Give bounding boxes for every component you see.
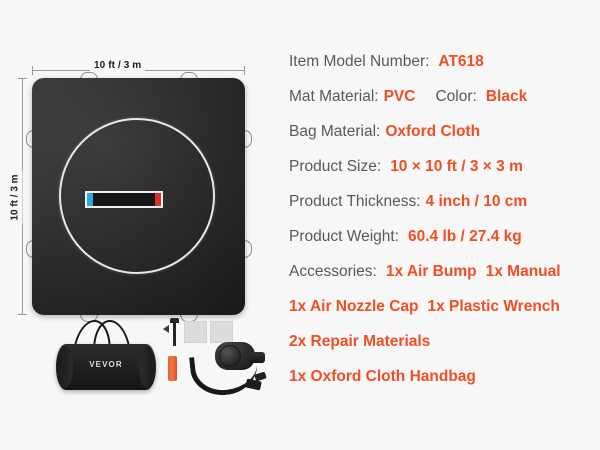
spec-label-mat-material: Mat Material: [289,88,379,106]
spec-row-accessories-cont-1: 1x Air Nozzle Cap 1x Plastic Wrench [289,289,594,324]
spec-label-product-weight: Product Weight: [289,228,399,246]
brand-chip-blue [87,193,93,206]
spec-value-mat-material: PVC [384,88,416,106]
spec-row-product-size: Product Size: 10 × 10 ft / 3 × 3 m [289,149,594,184]
spec-row-model-number: Item Model Number: AT618 [289,44,594,79]
pump-spout [249,352,265,363]
spec-row-product-weight: Product Weight: 60.4 lb / 27.4 kg [289,219,594,254]
pointer-arrow-icon [163,325,169,333]
mat-tab-right-lower [244,240,252,258]
electric-air-pump [189,340,271,400]
brand-chip-red [155,193,161,206]
pump-nozzle-attachment-b [254,371,267,381]
spec-label-model-number: Item Model Number: [289,53,429,71]
product-illustration: 10 ft / 3 m 10 ft / 3 m [0,0,280,450]
spec-row-accessories-cont-3: 1x Oxford Cloth Handbag [289,359,594,394]
dimension-cap-left-top [18,78,27,79]
spec-row-mat-material: Mat Material: PVC Color: Black [289,79,594,114]
air-nozzle-cap-icon [168,356,177,381]
spec-row-product-thickness: Product Thickness: 4 inch / 10 cm [289,184,594,219]
spec-row-accessories-cont-2: 2x Repair Materials [289,324,594,359]
spec-value-bag-material: Oxford Cloth [385,123,480,141]
dimension-label-left: 10 ft / 3 m [8,170,23,224]
dimension-cap-top-left [32,66,33,75]
spec-value-accessory-repair-materials: 2x Repair Materials [289,333,430,351]
oxford-cloth-handbag: VEVOR [52,318,160,396]
bag-body: VEVOR [56,344,156,390]
dimension-label-top: 10 ft / 3 m [90,60,145,71]
mat-tab-right-upper [244,130,252,148]
dimension-cap-left-bottom [18,314,27,315]
spec-label-color: Color: [435,88,476,106]
spec-value-model-number: AT618 [438,53,483,71]
spec-label-product-size: Product Size: [289,158,381,176]
spec-label-bag-material: Bag Material: [289,123,380,141]
bag-brand-label: VEVOR [56,360,156,369]
spec-label-product-thickness: Product Thickness: [289,193,421,211]
spec-row-bag-material: Bag Material: Oxford Cloth [289,114,594,149]
spec-value-accessory-air-bump: 1x Air Bump [386,263,477,281]
spec-value-accessory-manual: 1x Manual [486,263,561,281]
accessories-group [163,316,273,400]
specification-list: Item Model Number: AT618 Mat Material: P… [289,44,594,394]
spec-value-accessory-oxford-handbag: 1x Oxford Cloth Handbag [289,368,476,386]
plastic-wrench-icon [173,320,176,346]
dimension-cap-top-right [244,66,245,75]
spec-value-product-thickness: 4 inch / 10 cm [426,193,528,211]
pump-dial [219,345,241,367]
spec-value-accessory-plastic-wrench: 1x Plastic Wrench [428,298,560,316]
product-spec-card: 10 ft / 3 m 10 ft / 3 m [0,0,600,450]
mat-figure [32,78,245,315]
mat-brand-bar [85,191,163,208]
spec-value-color: Black [486,88,527,106]
spec-value-product-weight: 60.4 lb / 27.4 kg [408,228,522,246]
spec-value-accessory-nozzle-cap: 1x Air Nozzle Cap [289,298,419,316]
spec-label-accessories: Accessories: [289,263,377,281]
mat-surface [32,78,245,315]
spec-row-accessories: Accessories: 1x Air Bump 1x Manual [289,254,594,289]
spec-value-product-size: 10 × 10 ft / 3 × 3 m [390,158,523,176]
